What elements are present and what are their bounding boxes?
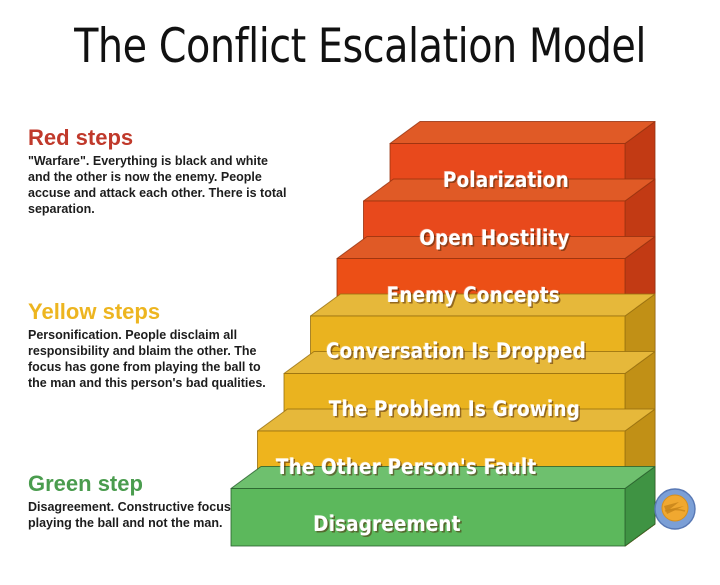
legend-heading-red: Red steps xyxy=(28,126,308,150)
step-side-face xyxy=(625,467,655,547)
legend-body-red: "Warfare". Everything is black and white… xyxy=(28,153,290,217)
legend-heading-green: Green step xyxy=(28,472,308,496)
step-side-face xyxy=(625,409,655,546)
legend-heading-yellow: Yellow steps xyxy=(28,300,308,324)
step-label-polarization: Polarization xyxy=(443,168,569,192)
step-label-conversation-is-dropped: Conversation Is Dropped xyxy=(326,339,586,363)
brand-logo-icon xyxy=(653,487,697,531)
step-side-face xyxy=(625,294,655,546)
legend-body-green: Disagreement. Constructive focus on play… xyxy=(28,499,258,531)
legend-block-yellow: Yellow steps Personification. People dis… xyxy=(28,300,308,391)
page-title: The Conflict Escalation Model xyxy=(22,22,699,71)
step-side-face xyxy=(625,179,655,546)
step-label-disagreement: Disagreement xyxy=(313,512,460,536)
step-side-face xyxy=(625,237,655,547)
step-label-enemy-concepts: Enemy Concepts xyxy=(387,283,560,307)
step-side-face xyxy=(625,122,655,547)
step-side-face xyxy=(625,352,655,547)
infographic-canvas: The Conflict Escalation Model Red steps … xyxy=(0,0,720,585)
step-label-the-problem-is-growing: The Problem Is Growing xyxy=(329,397,580,421)
legend-body-yellow: Personification. People disclaim all res… xyxy=(28,327,280,391)
step-label-the-other-persons-fault: The Other Person's Fault xyxy=(276,455,536,479)
legend-block-green: Green step Disagreement. Constructive fo… xyxy=(28,472,308,531)
legend-block-red: Red steps "Warfare". Everything is black… xyxy=(28,126,308,217)
step-label-open-hostility: Open Hostility xyxy=(419,226,569,250)
step-top-face xyxy=(390,122,655,144)
